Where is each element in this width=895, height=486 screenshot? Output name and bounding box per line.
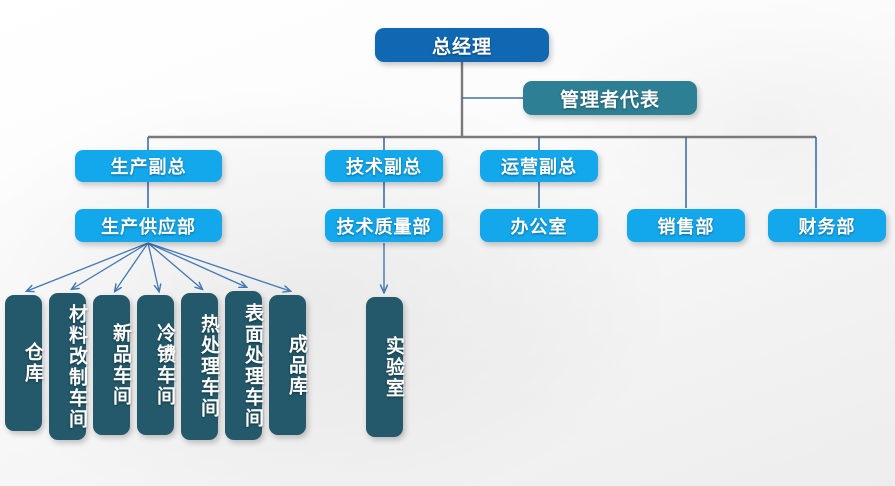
node-unit-warehouse[interactable]: 仓库	[5, 295, 42, 431]
node-dept-finance-label: 财务部	[799, 213, 856, 239]
node-vp-technology-label: 技术副总	[346, 153, 422, 179]
node-vp-operations-label: 运营副总	[501, 153, 577, 179]
node-unit-material-reform-workshop-label: 材料改制车间	[65, 304, 86, 430]
node-unit-new-product-workshop[interactable]: 新品车间	[93, 295, 130, 435]
node-unit-warehouse-label: 仓库	[21, 342, 42, 384]
connector-fan-material-reform	[72, 243, 148, 289]
node-unit-finished-goods-warehouse[interactable]: 成品库	[269, 295, 306, 435]
node-dept-office[interactable]: 办公室	[480, 209, 598, 242]
node-unit-heat-treatment-workshop[interactable]: 热处理车间	[181, 293, 218, 440]
node-unit-heat-treatment-workshop-label: 热处理车间	[197, 314, 218, 419]
node-unit-cold-heading-workshop-label: 冷镄车间	[153, 323, 174, 407]
node-dept-tech-quality[interactable]: 技术质量部	[325, 209, 443, 242]
connector-fan-heat-treatment	[148, 243, 202, 289]
node-dept-production-supply-label: 生产供应部	[101, 213, 196, 239]
node-unit-finished-goods-warehouse-label: 成品库	[285, 334, 306, 397]
node-unit-laboratory-label: 实验室	[382, 336, 403, 399]
node-vp-operations[interactable]: 运营副总	[480, 150, 598, 182]
node-unit-cold-heading-workshop[interactable]: 冷镄车间	[137, 295, 174, 435]
node-dept-tech-quality-label: 技术质量部	[337, 213, 432, 239]
node-vp-technology[interactable]: 技术副总	[325, 150, 443, 182]
node-dept-production-supply[interactable]: 生产供应部	[75, 209, 222, 242]
node-general-manager-label: 总经理	[432, 32, 492, 59]
node-vp-production[interactable]: 生产副总	[75, 150, 222, 182]
node-unit-surface-treatment-workshop-label: 表面处理车间	[241, 303, 262, 429]
connector-fan-new-product	[115, 243, 148, 291]
node-vp-production-label: 生产副总	[111, 153, 187, 179]
node-dept-office-label: 办公室	[511, 213, 568, 239]
node-management-representative[interactable]: 管理者代表	[523, 81, 697, 115]
node-general-manager[interactable]: 总经理	[375, 28, 549, 62]
node-unit-laboratory[interactable]: 实验室	[366, 297, 403, 437]
org-chart: 总经理 管理者代表 生产副总 技术副总 运营副总 生产供应部 技术质量部 办公室…	[0, 0, 895, 486]
connector-layer	[0, 0, 895, 486]
connector-fan-warehouse	[27, 243, 148, 291]
connector-fan-cold-heading	[148, 243, 159, 291]
connector-fan-finished-goods	[148, 243, 290, 291]
node-dept-finance[interactable]: 财务部	[768, 209, 886, 242]
node-unit-material-reform-workshop[interactable]: 材料改制车间	[49, 293, 86, 440]
node-management-representative-label: 管理者代表	[560, 85, 660, 112]
connector-fan-surface-treatment	[148, 243, 246, 287]
node-dept-sales[interactable]: 销售部	[627, 209, 745, 242]
node-unit-surface-treatment-workshop[interactable]: 表面处理车间	[225, 291, 262, 440]
node-unit-new-product-workshop-label: 新品车间	[109, 323, 130, 407]
node-dept-sales-label: 销售部	[658, 213, 715, 239]
